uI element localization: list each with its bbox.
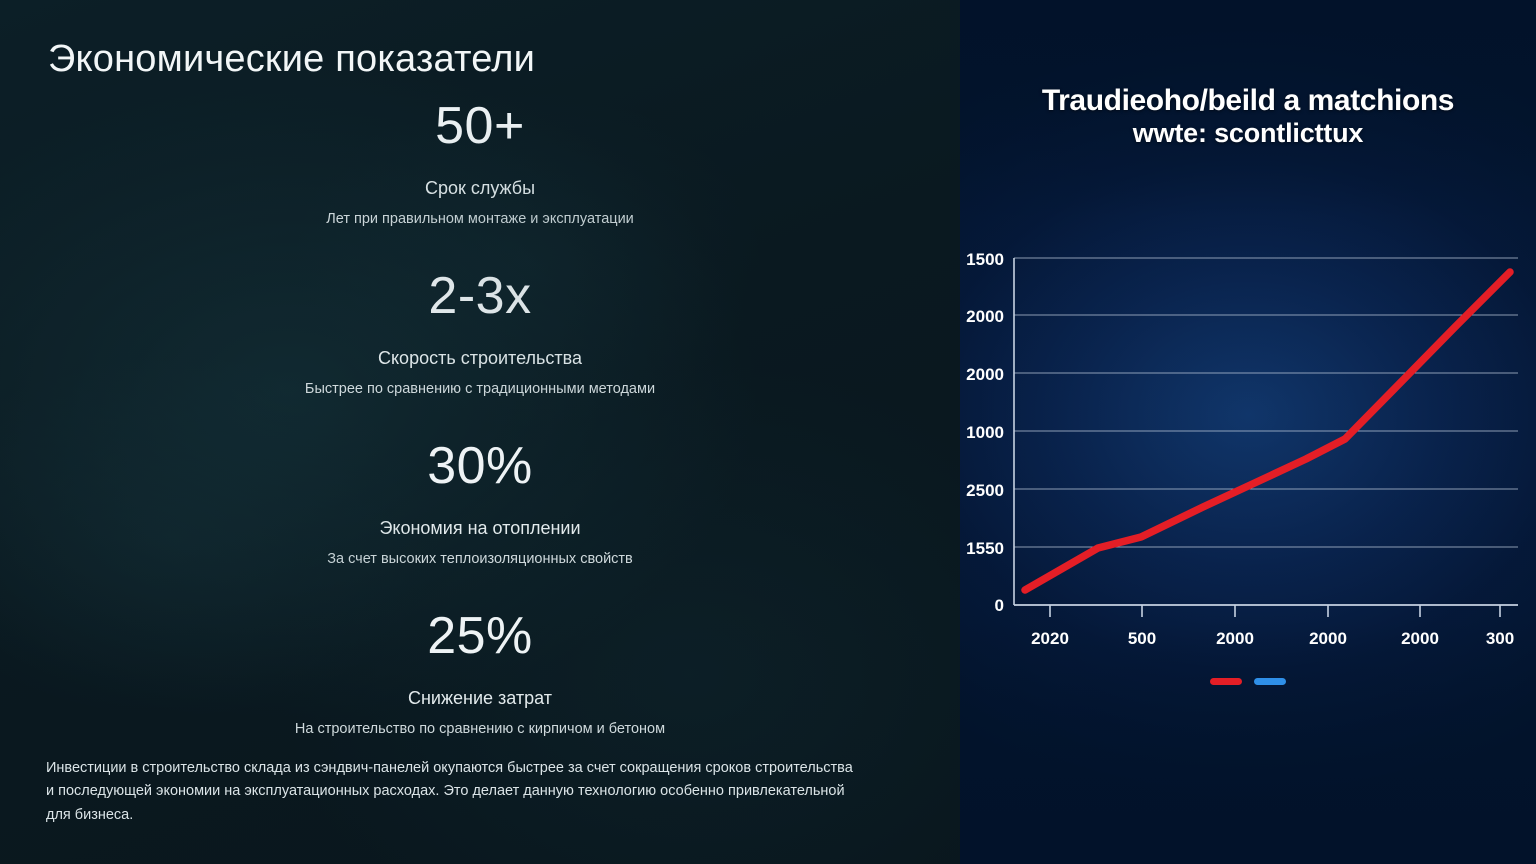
x-axis-tick-labels: 2020 500 2000 2000 2000 300 (1031, 629, 1514, 648)
chart-title-line-1: Traudieoho/beild a matchions (960, 84, 1536, 117)
gridlines (1014, 258, 1518, 547)
y-tick-label: 1000 (966, 423, 1004, 442)
legend-swatch-blue[interactable] (1254, 678, 1286, 685)
x-tick-label: 2000 (1216, 629, 1254, 648)
stat-label: Скорость строительства (0, 348, 960, 370)
legend-swatch-red[interactable] (1210, 678, 1242, 685)
y-tick-label: 1500 (966, 250, 1004, 269)
y-tick-label: 2500 (966, 481, 1004, 500)
y-tick-label: 2000 (966, 365, 1004, 384)
x-tick-label: 2000 (1401, 629, 1439, 648)
x-tick-label: 2000 (1309, 629, 1347, 648)
y-tick-label: 2000 (966, 307, 1004, 326)
chart-title-line-2: wwte: scontlicttux (960, 117, 1536, 151)
y-tick-label: 0 (995, 596, 1004, 615)
x-tick-label: 300 (1486, 629, 1514, 648)
stat-block-2: 2-3x Скорость строительства Быстрее по с… (0, 270, 960, 398)
stat-block-3: 30% Экономия на отоплении За счет высоки… (0, 440, 960, 568)
stat-value: 25% (0, 610, 960, 662)
stat-label: Срок службы (0, 178, 960, 200)
x-axis-ticks (1050, 605, 1500, 617)
stat-description: За счет высоких теплоизоляционных свойст… (0, 551, 960, 568)
slide-root: Экономические показатели 50+ Срок службы… (0, 0, 1536, 864)
stat-description: Быстрее по сравнению с традиционными мет… (0, 381, 960, 398)
stat-description: Лет при правильном монтаже и эксплуатаци… (0, 211, 960, 228)
chart-title: Traudieoho/beild a matchions wwte: scont… (960, 84, 1536, 151)
stat-label: Экономия на отоплении (0, 518, 960, 540)
chart-legend (960, 678, 1536, 685)
stat-value: 2-3x (0, 270, 960, 322)
left-content-panel: Экономические показатели 50+ Срок службы… (0, 0, 960, 864)
x-tick-label: 2020 (1031, 629, 1069, 648)
right-chart-panel: Traudieoho/beild a matchions wwte: scont… (960, 0, 1536, 864)
page-title: Экономические показатели (48, 38, 535, 81)
stat-label: Снижение затрат (0, 688, 960, 710)
y-tick-label: 1550 (966, 539, 1004, 558)
summary-paragraph: Инвестиции в строительство склада из сэн… (46, 757, 856, 827)
stat-block-1: 50+ Срок службы Лет при правильном монта… (0, 100, 960, 228)
x-tick-label: 500 (1128, 629, 1156, 648)
y-axis-tick-labels: 1500 2000 2000 1000 2500 1550 0 (966, 250, 1004, 615)
stat-description: На строительство по сравнению с кирпичом… (0, 721, 960, 738)
stat-value: 50+ (0, 100, 960, 152)
stat-block-4: 25% Снижение затрат На строительство по … (0, 610, 960, 738)
stat-value: 30% (0, 440, 960, 492)
